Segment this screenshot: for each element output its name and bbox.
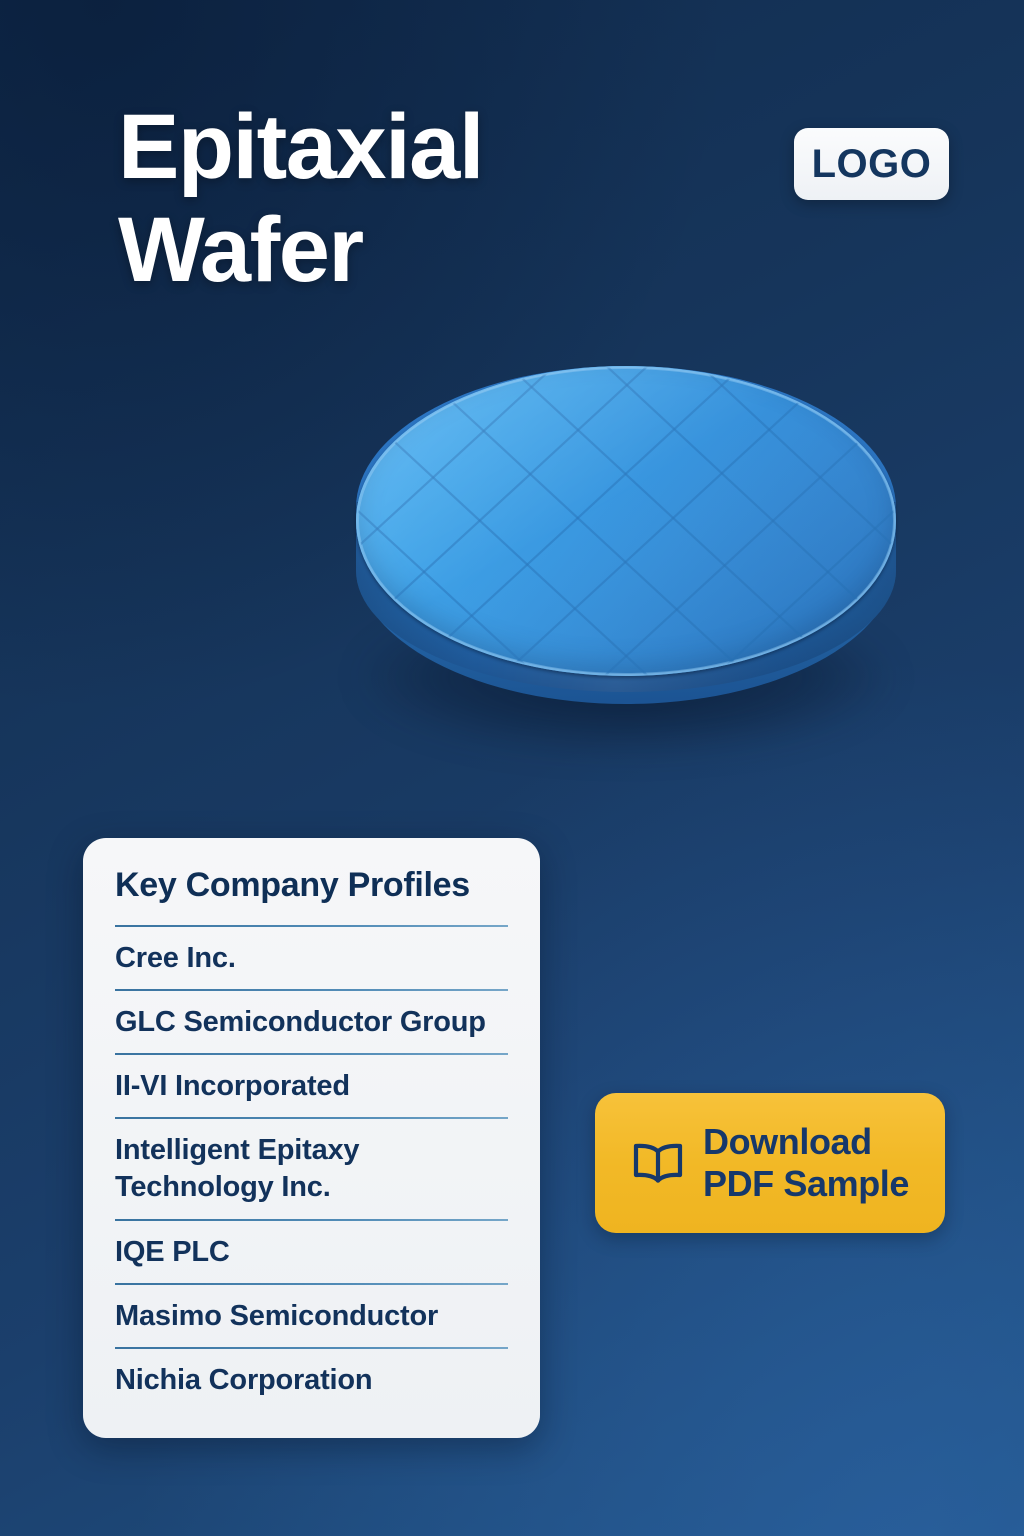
wafer-top-surface <box>356 366 896 676</box>
divider <box>115 1053 508 1055</box>
logo-label: LOGO <box>812 142 932 187</box>
divider <box>115 925 508 927</box>
divider <box>115 1117 508 1119</box>
divider <box>115 989 508 991</box>
open-book-icon <box>631 1140 685 1186</box>
poster-canvas: Epitaxial Wafer LOGO <box>0 0 1024 1536</box>
list-item[interactable]: Cree Inc. <box>115 927 508 989</box>
list-item[interactable]: IQE PLC <box>115 1221 508 1283</box>
divider <box>115 1283 508 1285</box>
page-title: Epitaxial Wafer <box>118 96 778 302</box>
list-item[interactable]: GLC Semiconductor Group <box>115 991 508 1053</box>
download-button-label: Download PDF Sample <box>703 1121 909 1206</box>
list-item[interactable]: Nichia Corporation <box>115 1349 508 1411</box>
list-item[interactable]: II-VI Incorporated <box>115 1055 508 1117</box>
key-company-profiles-card: Key Company Profiles Cree Inc. GLC Semic… <box>83 838 540 1438</box>
divider <box>115 1219 508 1221</box>
logo-badge[interactable]: LOGO <box>794 128 949 200</box>
epitaxial-wafer-illustration <box>352 352 900 764</box>
download-pdf-sample-button[interactable]: Download PDF Sample <box>595 1093 945 1233</box>
wafer-die-grid-icon <box>356 366 896 676</box>
card-title: Key Company Profiles <box>115 866 508 905</box>
list-item[interactable]: Intelligent Epitaxy Technology Inc. <box>115 1119 508 1218</box>
divider <box>115 1347 508 1349</box>
list-item[interactable]: Masimo Semiconductor <box>115 1285 508 1347</box>
